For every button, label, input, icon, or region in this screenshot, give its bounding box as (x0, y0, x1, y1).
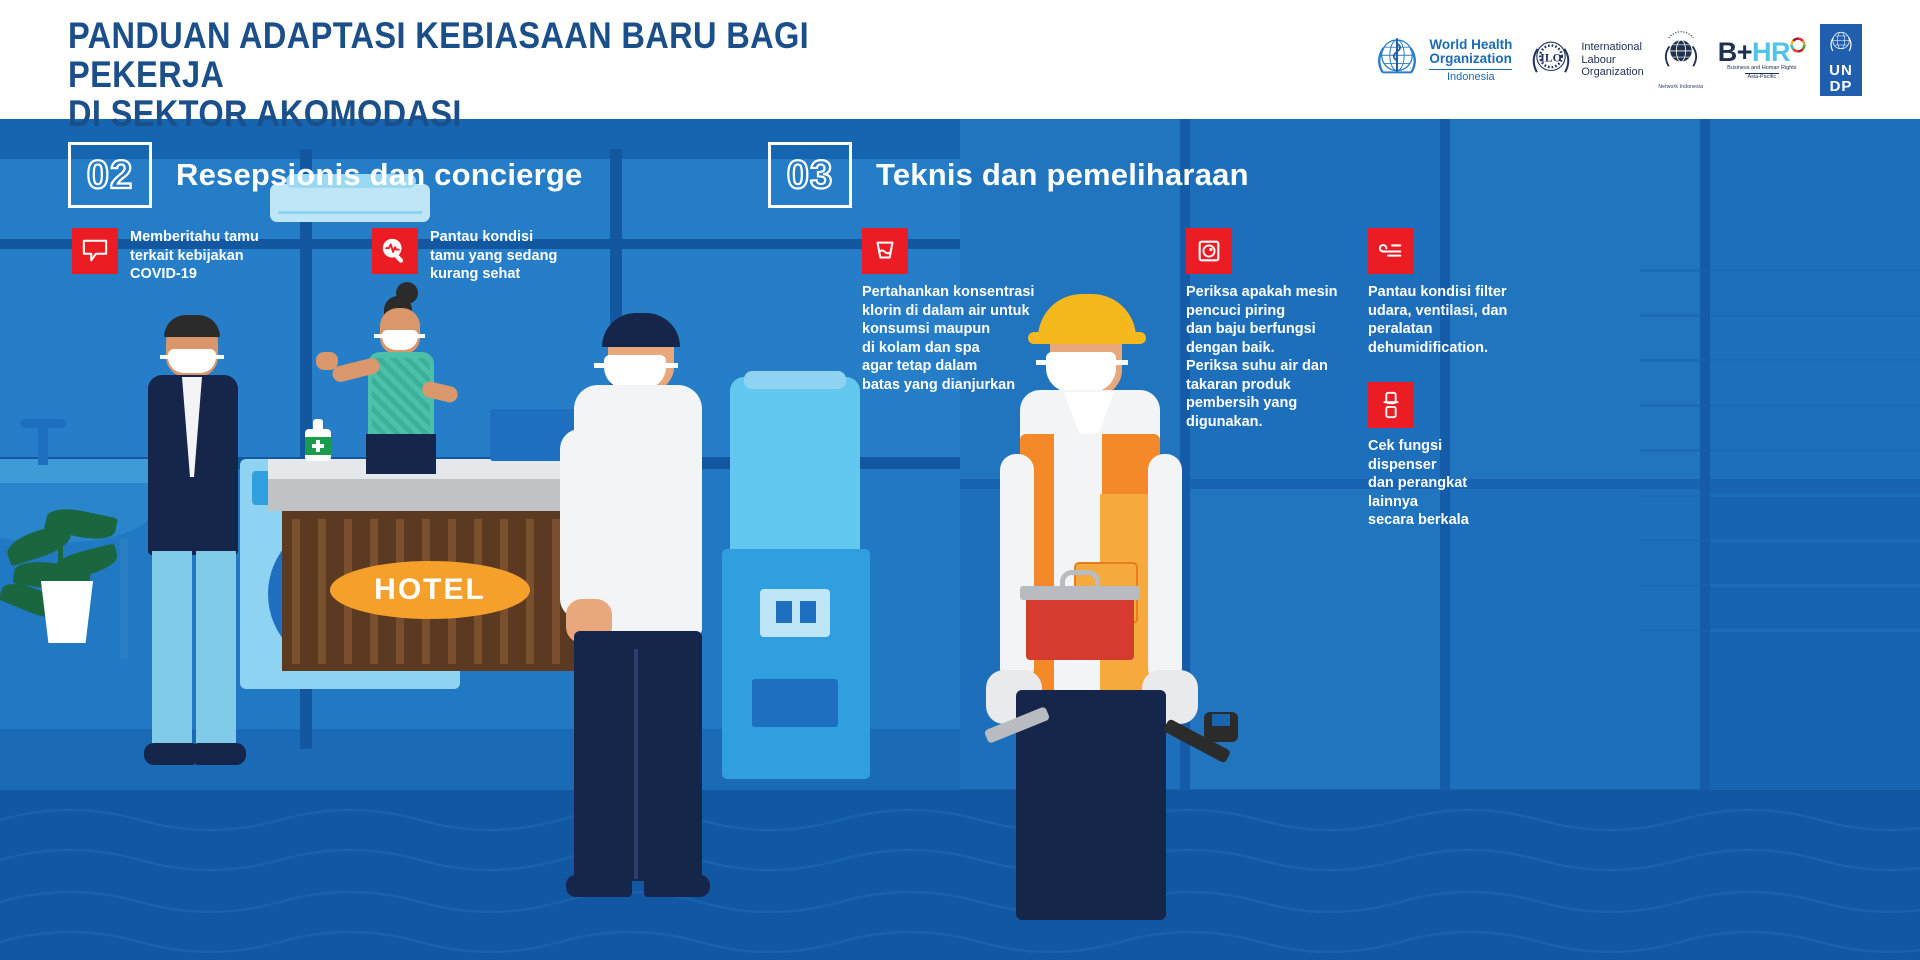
callout-03-3: Pantau kondisi filter udara, ventilasi, … (1368, 228, 1568, 357)
water-glass-icon (862, 228, 908, 274)
callout-02-2-text: Pantau kondisi tamu yang sedang kurang s… (430, 228, 557, 284)
svg-text:ILO: ILO (1541, 51, 1562, 64)
bhr-sub1: Business and Human Rights (1727, 65, 1796, 72)
un-global-compact-sub: Network Indonesia (1658, 84, 1703, 90)
callout-03-1: Pertahankan konsentrasi klorin di dalam … (862, 228, 1062, 394)
bhr-sub2: Asia-Pacific (1747, 74, 1776, 81)
hotel-sign-label: HOTEL (374, 573, 486, 607)
callout-03-3-text: Pantau kondisi filter udara, ventilasi, … (1368, 283, 1568, 357)
undp-line1: UN (1829, 63, 1853, 78)
ilo-logo: ILO International Labour Organization (1526, 33, 1643, 88)
ilo-logo-text: International Labour Organization (1581, 41, 1643, 79)
sdg-wheel-icon (1790, 37, 1806, 58)
character-guest-with-scarf (560, 319, 760, 919)
washing-machine-icon (1186, 228, 1232, 274)
undp-logo: UN DP (1820, 24, 1862, 96)
bhr-hr: HR (1752, 39, 1790, 65)
speech-bubble-icon (72, 228, 118, 274)
air-filter-icon (1368, 228, 1414, 274)
who-emblem-icon (1370, 31, 1424, 90)
page-title: PANDUAN ADAPTASI KEBIASAAN BARU BAGI PEK… (68, 16, 913, 133)
health-monitor-search-icon (372, 228, 418, 274)
section-02-number: 02 (68, 142, 152, 208)
section-02-header: 02 Resepsionis dan concierge (68, 142, 582, 208)
ilo-emblem-icon: ILO (1526, 33, 1576, 88)
callout-03-2: Periksa apakah mesin pencuci piring dan … (1186, 228, 1396, 431)
callout-02-2: Pantau kondisi tamu yang sedang kurang s… (372, 228, 662, 284)
partner-logos: World Health Organization Indonesia ILO … (1370, 22, 1862, 98)
section-03-header: 03 Teknis dan pemeliharaan (768, 142, 1249, 208)
bhr-plus: + (1737, 39, 1752, 65)
un-global-compact-logo: Network Indonesia (1658, 31, 1704, 90)
callout-02-1: Memberitahu tamu terkait kebijakan COVID… (72, 228, 362, 284)
callout-03-4-text: Cek fungsi dispenser dan perangkat lainn… (1368, 437, 1568, 530)
water-dispenser-icon (1368, 382, 1414, 428)
who-logo: World Health Organization Indonesia (1370, 31, 1512, 90)
undp-emblem-icon (1826, 27, 1856, 62)
hotel-sign: HOTEL (330, 561, 530, 619)
callout-03-1-text: Pertahankan konsentrasi klorin di dalam … (862, 283, 1062, 394)
callout-03-2-text: Periksa apakah mesin pencuci piring dan … (1186, 283, 1396, 431)
section-02-title: Resepsionis dan concierge (176, 157, 582, 193)
page-header: PANDUAN ADAPTASI KEBIASAAN BARU BAGI PEK… (0, 0, 1920, 119)
globe-wreath-icon (1658, 31, 1704, 82)
section-03-number: 03 (768, 142, 852, 208)
bhr-logo: B + HR (1718, 39, 1806, 81)
callout-03-4: Cek fungsi dispenser dan perangkat lainn… (1368, 382, 1568, 530)
callout-02-1-text: Memberitahu tamu terkait kebijakan COVID… (130, 228, 259, 284)
character-standing-guest (130, 319, 260, 879)
character-receptionist (330, 304, 470, 484)
who-logo-text: World Health Organization Indonesia (1429, 38, 1512, 83)
bhr-b: B (1718, 39, 1737, 65)
undp-line2: DP (1830, 79, 1853, 94)
section-03-title: Teknis dan pemeliharaan (876, 157, 1249, 193)
